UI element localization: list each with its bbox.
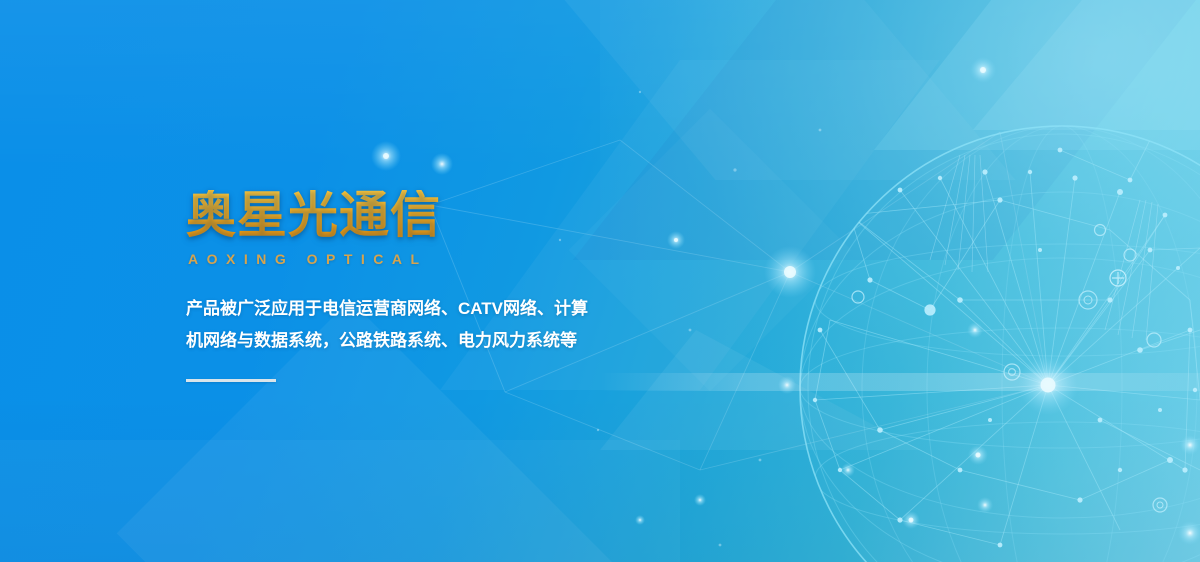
brand-description: 产品被广泛应用于电信运营商网络、CATV网络、计算机网络与数据系统，公路铁路系统… [186, 293, 590, 357]
hero-banner: 奥星光通信 AOXING OPTICAL 产品被广泛应用于电信运营商网络、CAT… [0, 0, 1200, 562]
hero-content: 奥星光通信 AOXING OPTICAL 产品被广泛应用于电信运营商网络、CAT… [186, 190, 706, 382]
brand-title: 奥星光通信 [186, 190, 706, 240]
brand-subtitle: AOXING OPTICAL [188, 251, 706, 267]
divider-rule [186, 379, 276, 382]
